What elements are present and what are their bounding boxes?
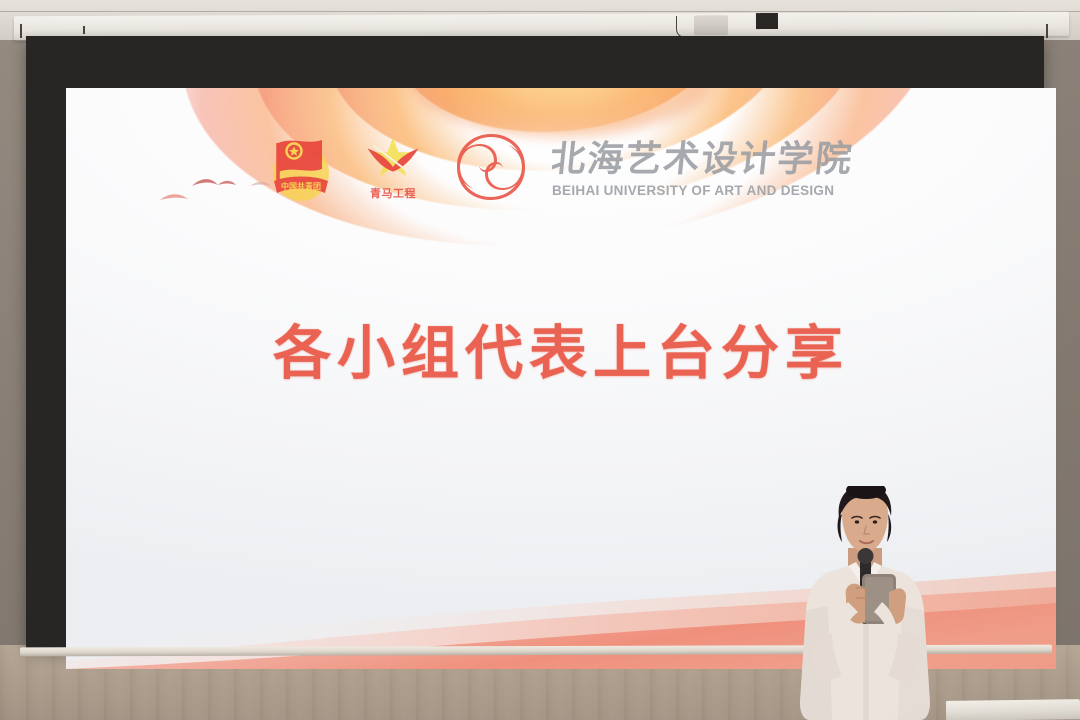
slide-main-title: 各小组代表上台分享 [66, 306, 1056, 390]
wall-hook-left-2 [83, 26, 85, 34]
student-presenter [770, 486, 960, 720]
flying-birds-icon [154, 166, 284, 222]
university-name-block: 北海艺术设计学院 BEIHAI UNIVERSITY OF ART AND DE… [552, 136, 882, 198]
qingma-project-label: 青马工程 [370, 185, 416, 201]
housing-dark-block [756, 13, 778, 29]
university-name-en: BEIHAI UNIVERSITY OF ART AND DESIGN [552, 183, 882, 198]
university-name-cn: 北海艺术设计学院 [552, 136, 882, 182]
beihai-spiral-mark-icon [452, 128, 530, 206]
hanging-wire [676, 16, 692, 38]
classroom-scene: 中国共青团 青马工程 [0, 0, 1080, 720]
podium-edge [946, 699, 1080, 720]
qingma-project-logo-icon: 青马工程 [356, 136, 430, 198]
communist-youth-league-emblem-icon: 中国共青团 [266, 129, 340, 205]
svg-text:中国共青团: 中国共青团 [281, 181, 321, 191]
wall-hook-left [20, 24, 22, 38]
wall-hook-right [1046, 24, 1048, 38]
housing-clip [694, 15, 728, 35]
svg-text:北海艺术设计学院: 北海艺术设计学院 [552, 138, 856, 180]
slide-logo-row: 中国共青团 青马工程 [266, 128, 882, 206]
